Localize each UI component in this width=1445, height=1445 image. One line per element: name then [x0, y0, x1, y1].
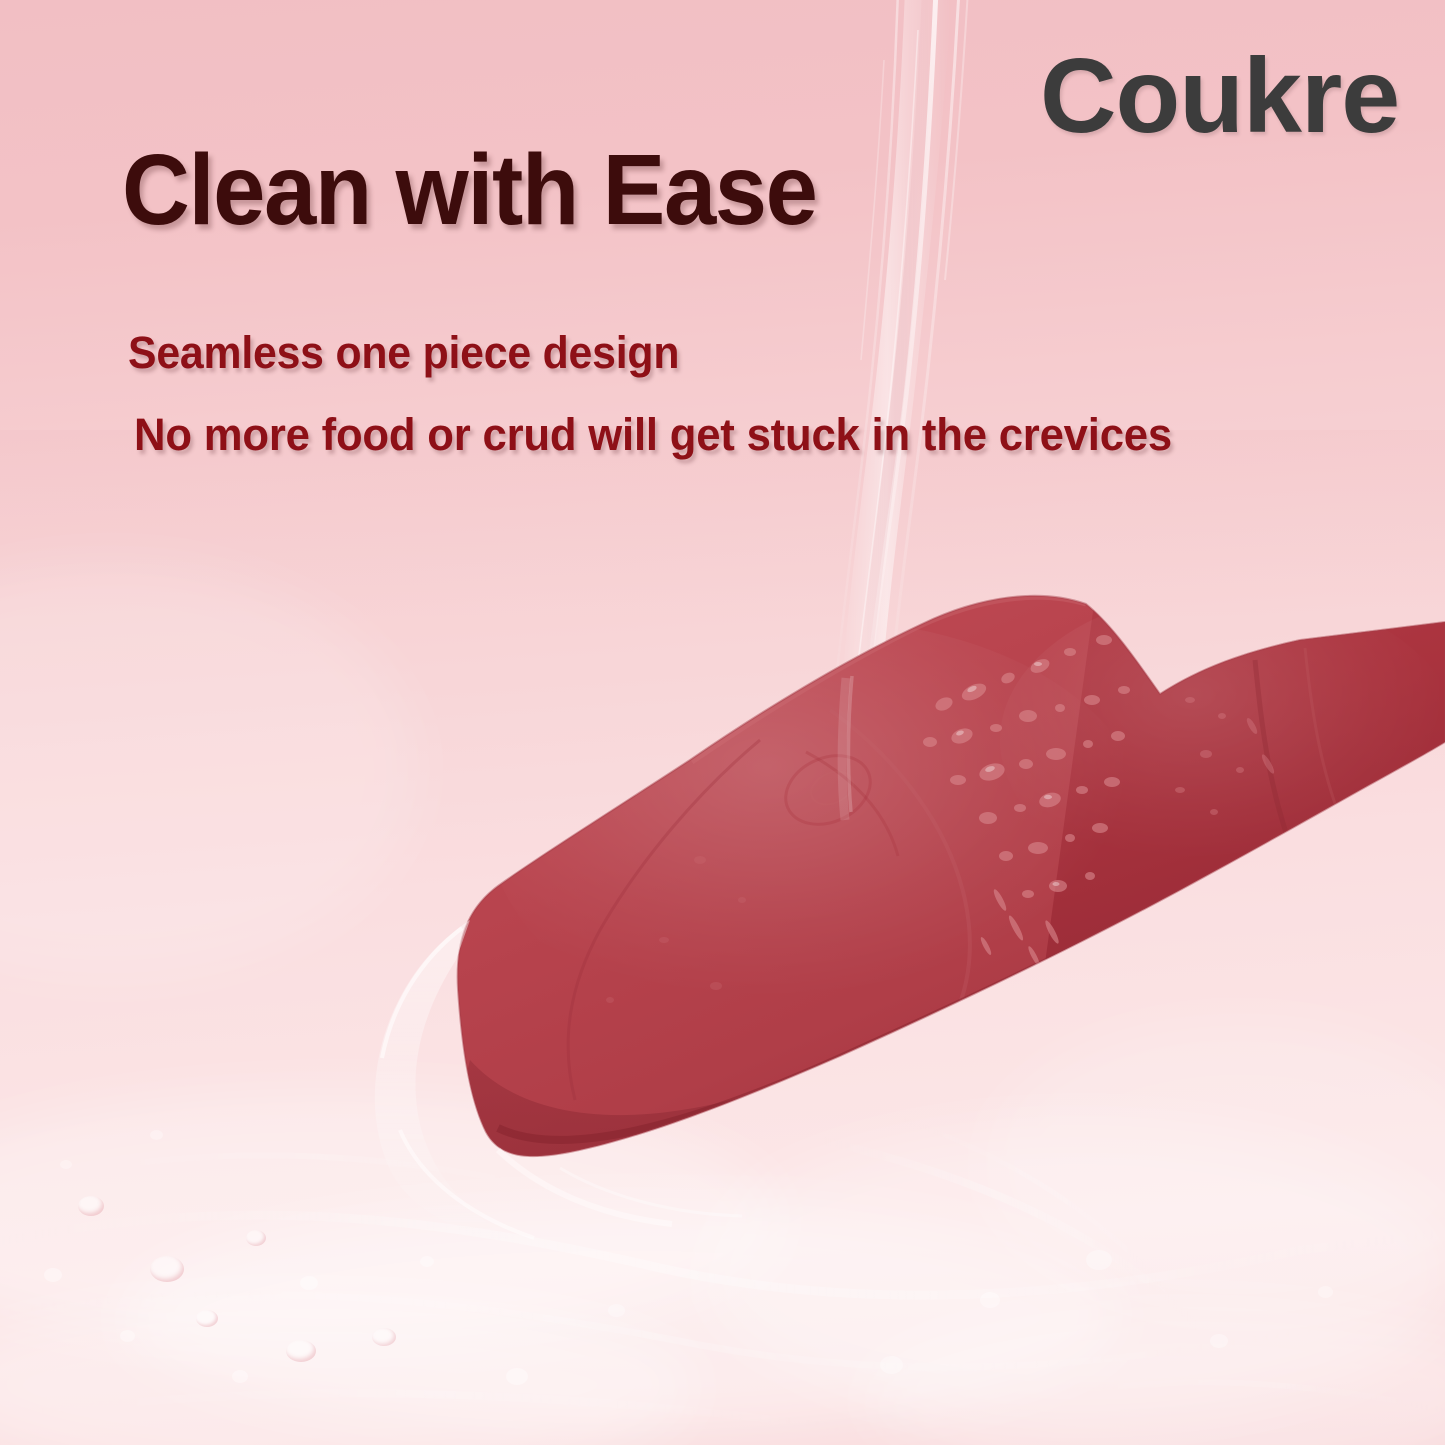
water-droplets-on-spatula: [606, 635, 1276, 1003]
feature-line-2: No more food or crud will get stuck in t…: [134, 412, 1172, 457]
feature-line-1: Seamless one piece design: [128, 330, 679, 375]
headline-text: Clean with Ease: [122, 140, 817, 240]
brand-name: Coukre: [1040, 43, 1399, 149]
product-marketing-image: Coukre Clean with Ease Seamless one piec…: [0, 0, 1445, 1445]
